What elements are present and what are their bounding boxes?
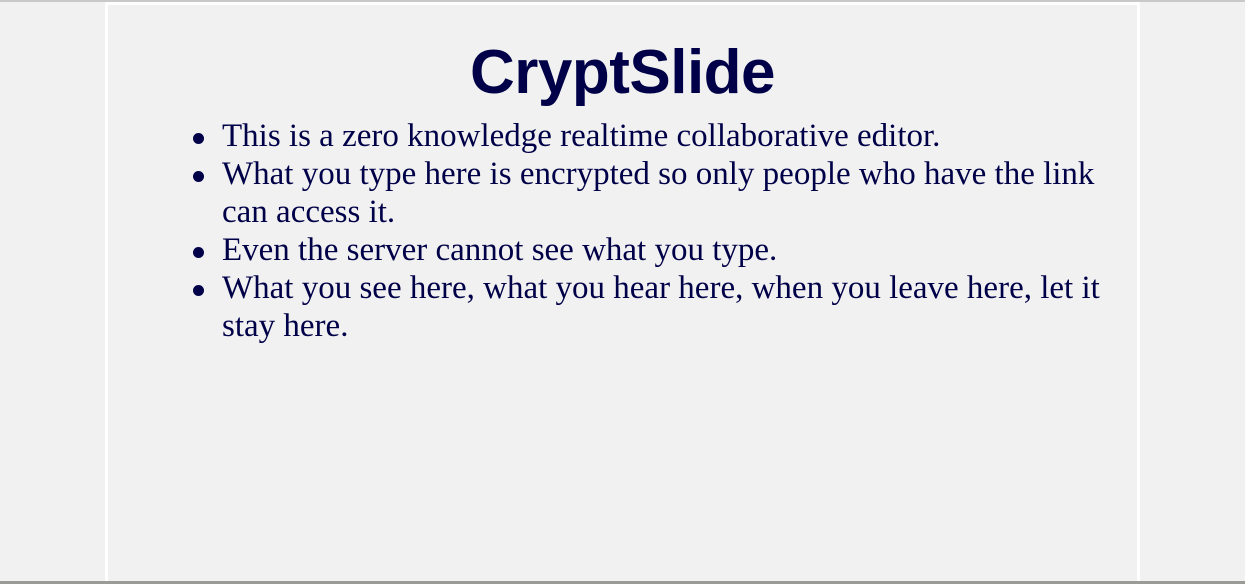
slide-title: CryptSlide [108,5,1137,104]
bullet-text: What you see here, what you hear here, w… [222,269,1107,345]
bullet-point-icon [193,133,204,144]
list-item[interactable]: Even the server cannot see what you type… [152,231,1107,269]
list-item[interactable]: This is a zero knowledge realtime collab… [152,117,1107,155]
bullet-point-icon [193,285,204,296]
bullet-text: What you type here is encrypted so only … [222,155,1107,231]
bullet-point-icon [193,171,204,182]
slide-viewer-root: CryptSlide This is a zero knowledge real… [0,0,1245,584]
slide-bullet-list: This is a zero knowledge realtime collab… [152,117,1107,345]
list-item[interactable]: What you see here, what you hear here, w… [152,269,1107,345]
bullet-text: This is a zero knowledge realtime collab… [222,117,1107,155]
bullet-point-icon [193,247,204,258]
bullet-text: Even the server cannot see what you type… [222,231,1107,269]
list-item[interactable]: What you type here is encrypted so only … [152,155,1107,231]
slide-canvas[interactable]: CryptSlide This is a zero knowledge real… [105,2,1140,581]
